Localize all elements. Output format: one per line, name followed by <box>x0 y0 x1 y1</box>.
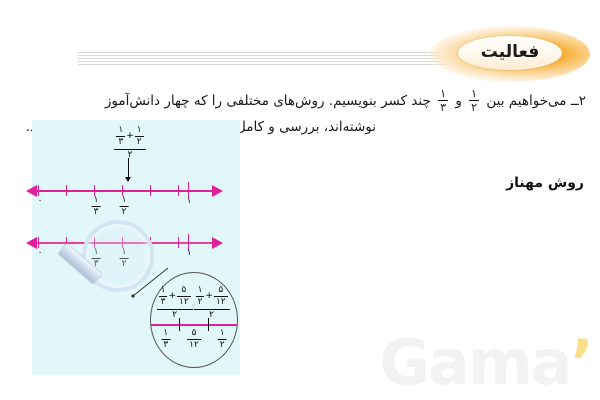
page-header: فعالیت <box>0 0 600 86</box>
numberline-label-one-third: ۱ ۳ <box>92 248 101 270</box>
arrow-left-icon <box>26 237 37 249</box>
fraction-denominator: ۳ <box>92 206 101 217</box>
fraction-denominator: ۲ <box>135 136 144 147</box>
compound-denominator: ۲ <box>194 310 230 320</box>
fraction-denominator: ۱۲ <box>214 296 228 307</box>
tick-mark <box>178 237 179 248</box>
tick-mark <box>38 237 39 248</box>
fraction-denominator: ۳ <box>159 296 168 307</box>
numberline-1: ۰ ۱ ۳ ۱ ۲ ۱ <box>34 178 234 208</box>
fraction-one-half: ۱ ۲ <box>120 196 129 218</box>
watermark-text: Gama <box>379 326 570 399</box>
compound-denominator: ۲ <box>157 310 193 320</box>
plus-operator: + <box>125 132 135 141</box>
fraction-numerator: ۱ <box>218 329 227 339</box>
tick-mark <box>150 185 151 196</box>
numberline-label-one: ۱ <box>187 248 192 258</box>
fraction-numerator: ۵ <box>177 286 191 296</box>
fraction-numerator: ۱ <box>438 88 448 100</box>
magnified-label-one-half: ۱ ۲ <box>218 329 227 351</box>
compound-denominator: ۲ <box>114 150 145 160</box>
arrow-right-icon <box>212 237 223 249</box>
fraction-one-third: ۱ ۳ <box>116 126 125 148</box>
inline-fraction-one-half: ۱ ۲ <box>469 88 479 113</box>
fraction-one-third: ۱ ۳ <box>92 248 101 270</box>
gama-watermark: Gama’ <box>379 332 592 394</box>
compound-fraction: ۱ ۳ + ۱ ۲ ۲ <box>114 126 145 160</box>
fraction-numerator: ۱ <box>161 329 170 339</box>
numberline-label-one-half: ۱ ۲ <box>120 196 129 218</box>
fraction-numerator: ۱ <box>469 88 479 100</box>
numberline-label-one: ۱ <box>187 196 192 206</box>
paragraph-text-b: و <box>455 93 462 109</box>
magnified-tick <box>179 318 180 331</box>
numberline-label-zero: ۰ <box>38 196 43 206</box>
top-compound-expression: ۱ ۳ + ۱ ۲ ۲ <box>94 126 166 161</box>
fraction-numerator: ۱ <box>116 126 125 136</box>
magnified-axis <box>151 324 237 326</box>
inline-fraction-one-third: ۱ ۳ <box>438 88 448 113</box>
magnified-label-five-twelfths: ۵ ۱۲ <box>187 329 201 351</box>
fraction-one-third: ۱ ۳ <box>159 286 168 308</box>
fraction-one-half: ۱ ۲ <box>196 286 205 308</box>
fraction-one-half: ۱ ۲ <box>218 329 227 351</box>
numberline-label-zero: ۰ <box>38 248 43 258</box>
tick-mark <box>66 237 67 248</box>
method-title: روش مهناز <box>506 175 584 191</box>
down-arrow-icon <box>128 158 129 178</box>
plus-operator: + <box>204 292 214 301</box>
fraction-numerator: ۱ <box>135 126 144 136</box>
fraction-five-twelfths: ۵ ۱۲ <box>214 286 228 308</box>
fraction-numerator: ۱ <box>196 286 205 296</box>
fraction-five-twelfths: ۵ ۱۲ <box>177 286 191 308</box>
tick-mark <box>38 185 39 196</box>
arrow-right-icon <box>212 185 223 197</box>
fraction-denominator: ۳ <box>161 339 170 350</box>
fraction-denominator: ۱۲ <box>177 296 191 307</box>
fraction-denominator: ۲ <box>469 100 479 113</box>
badge-oval: فعالیت <box>458 36 562 70</box>
fraction-one-third: ۱ ۳ <box>92 196 101 218</box>
paragraph-line-1: ۲ــ می‌خواهیم بین ۱ ۲ و ۱ ۳ چند کسر بنوی… <box>14 88 586 114</box>
tick-mark <box>178 185 179 196</box>
fraction-numerator: ۵ <box>214 286 228 296</box>
fraction-denominator: ۲ <box>196 296 205 307</box>
fraction-denominator: ۳ <box>438 100 448 113</box>
tick-mark <box>150 237 151 248</box>
fraction-denominator: ۲ <box>120 206 129 217</box>
fraction-five-twelfths: ۵ ۱۲ <box>187 329 201 351</box>
magnified-expression-left: ۱ ۳ + ۵ ۱۲ ۲ <box>157 286 193 320</box>
numberline-label-one-third: ۱ ۳ <box>92 196 101 218</box>
compound-numerator: ۱ ۳ + ۱ ۲ <box>114 126 145 150</box>
compound-numerator: ۱ ۲ + ۵ ۱۲ <box>194 286 230 310</box>
watermark-accent: ’ <box>570 326 592 399</box>
tick-mark <box>66 185 67 196</box>
magnified-detail-oval: ۱ ۳ + ۵ ۱۲ ۲ ۱ ۲ + ۵ ۱۲ <box>150 272 238 368</box>
item-number: ۲ــ <box>571 93 586 109</box>
fraction-denominator: ۳ <box>92 258 101 269</box>
numberline-2: ۰ ۱ ۳ ۱ ۲ ۱ <box>34 230 234 260</box>
fraction-numerator: ۱ <box>159 286 168 296</box>
compound-numerator: ۱ ۳ + ۵ ۱۲ <box>157 286 193 310</box>
fraction-denominator: ۲ <box>218 339 227 350</box>
fraction-one-third: ۱ ۳ <box>161 329 170 351</box>
activity-badge: فعالیت <box>430 26 590 82</box>
fraction-numerator: ۱ <box>92 248 101 258</box>
compound-fraction: ۱ ۳ + ۵ ۱۲ ۲ <box>157 286 193 320</box>
paragraph-text-c: چند کسر بنویسیم. روش‌های مختلفی را که چه… <box>105 93 431 109</box>
fraction-one-half: ۱ ۲ <box>135 126 144 148</box>
badge-label: فعالیت <box>481 42 539 64</box>
fraction-denominator: ۳ <box>116 136 125 147</box>
fraction-numerator: ۱ <box>120 196 129 206</box>
compound-fraction: ۱ ۲ + ۵ ۱۲ ۲ <box>194 286 230 320</box>
magnified-expression-right: ۱ ۲ + ۵ ۱۲ ۲ <box>194 286 230 320</box>
fraction-denominator: ۱۲ <box>187 339 201 350</box>
plus-operator: + <box>167 292 177 301</box>
figure-panel: ۱ ۳ + ۱ ۲ ۲ ۰ ۱ ۳ <box>32 120 240 375</box>
fraction-numerator: ۵ <box>187 329 201 339</box>
magnified-tick <box>208 318 209 331</box>
paragraph-text-a: می‌خواهیم بین <box>486 93 566 109</box>
arrow-left-icon <box>26 185 37 197</box>
magnified-label-one-third: ۱ ۳ <box>161 329 170 351</box>
fraction-numerator: ۱ <box>120 248 129 258</box>
fraction-numerator: ۱ <box>92 196 101 206</box>
